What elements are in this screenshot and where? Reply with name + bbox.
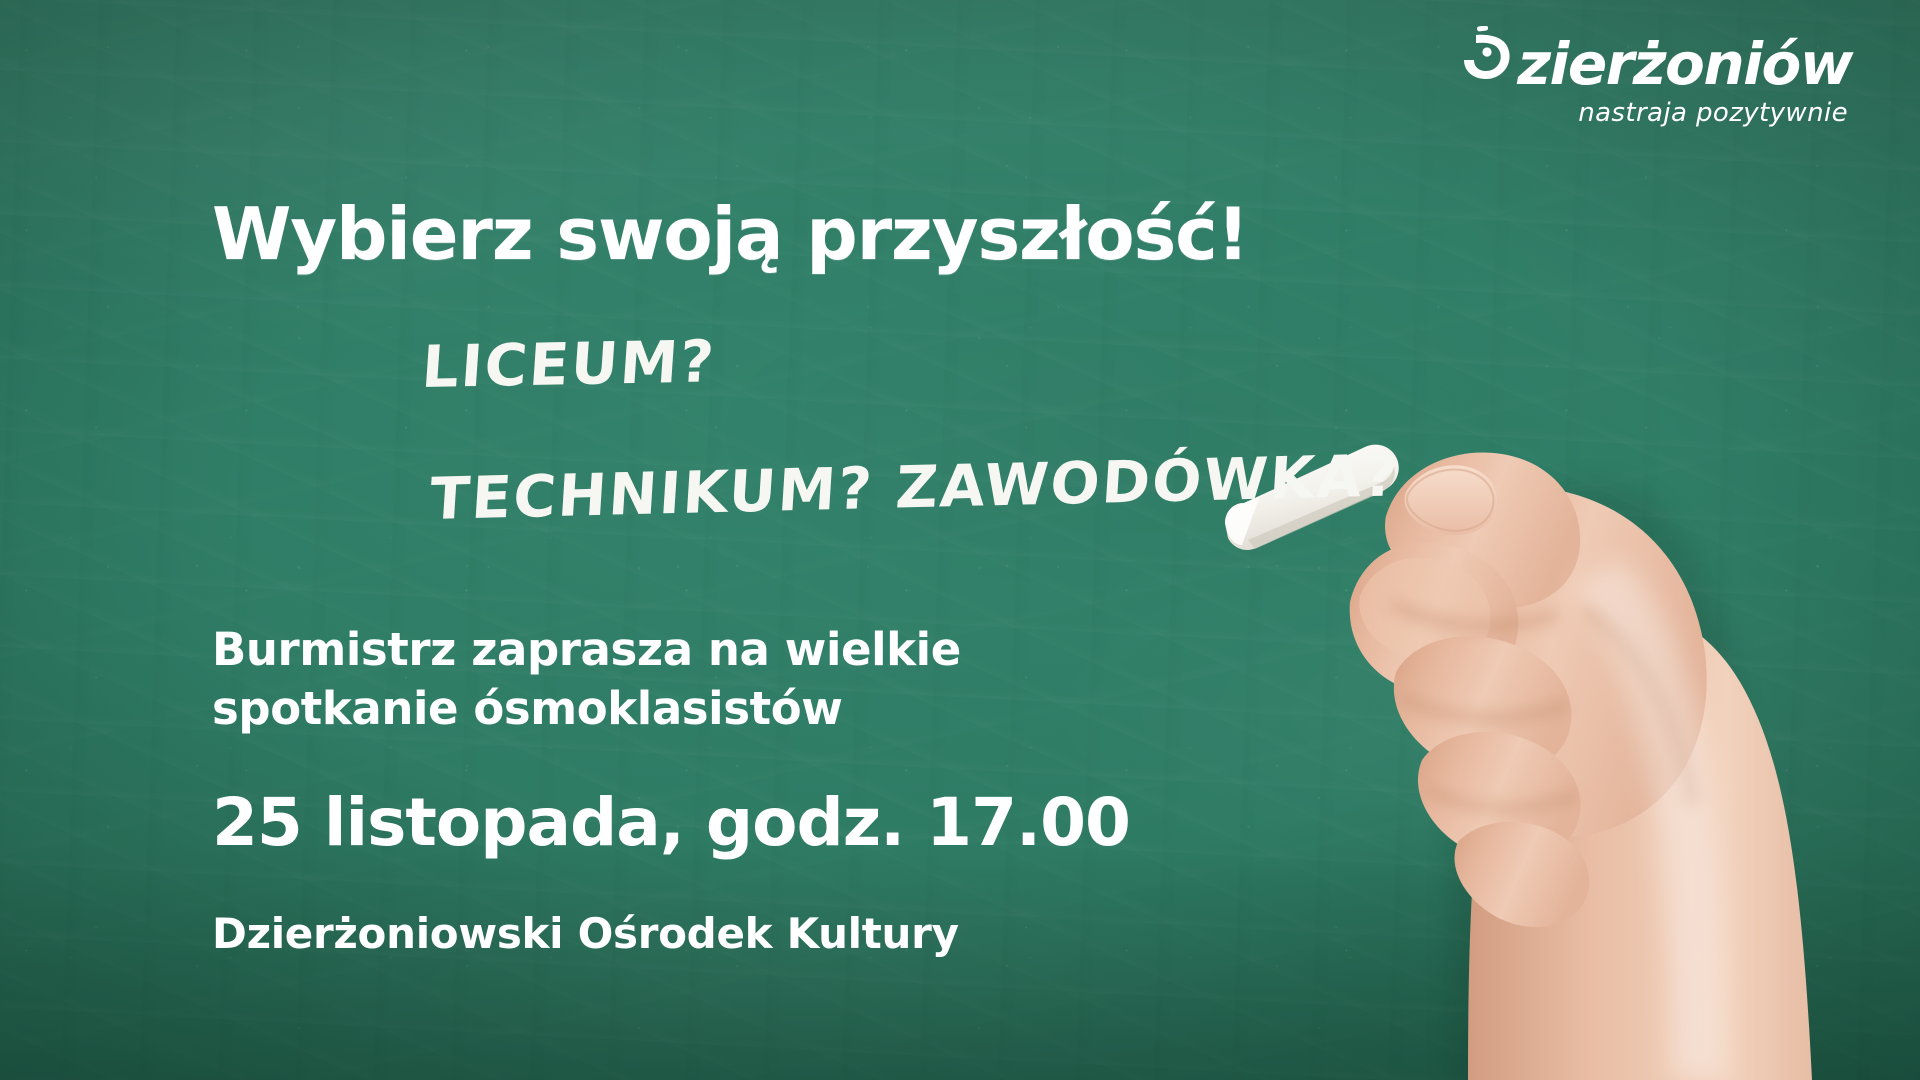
handwritten-option-technikum-zawodowka: TECHNIKUM? ZAWODÓWKA? bbox=[428, 446, 1401, 528]
invitation-line-1: Burmistrz zaprasza na wielkie bbox=[212, 620, 912, 679]
poster-content: Wybierz swoją przyszłość! LICEUM? TECHNI… bbox=[212, 0, 1332, 1080]
logo-wordmark: zierżoniów bbox=[1462, 26, 1852, 93]
event-venue: Dzierżoniowski Ośrodek Kultury bbox=[212, 913, 959, 955]
handwritten-option-liceum: LICEUM? bbox=[420, 332, 718, 396]
page-title: Wybierz swoją przyszłość! bbox=[212, 198, 1248, 270]
event-datetime: 25 listopada, godz. 17.00 bbox=[212, 790, 1130, 856]
invitation-text: Burmistrz zaprasza na wielkie spotkanie … bbox=[212, 620, 912, 739]
logo-wordmark-text: zierżoniów bbox=[1517, 35, 1852, 93]
logo-tagline: nastraja pozytywnie bbox=[1462, 100, 1852, 126]
invitation-line-2: spotkanie ósmoklasistów bbox=[212, 679, 912, 738]
poster-canvas: zierżoniów nastraja pozytywnie bbox=[0, 0, 1920, 1080]
city-logo: zierżoniów nastraja pozytywnie bbox=[1462, 26, 1852, 126]
logo-d-smiley-icon bbox=[1462, 26, 1516, 84]
